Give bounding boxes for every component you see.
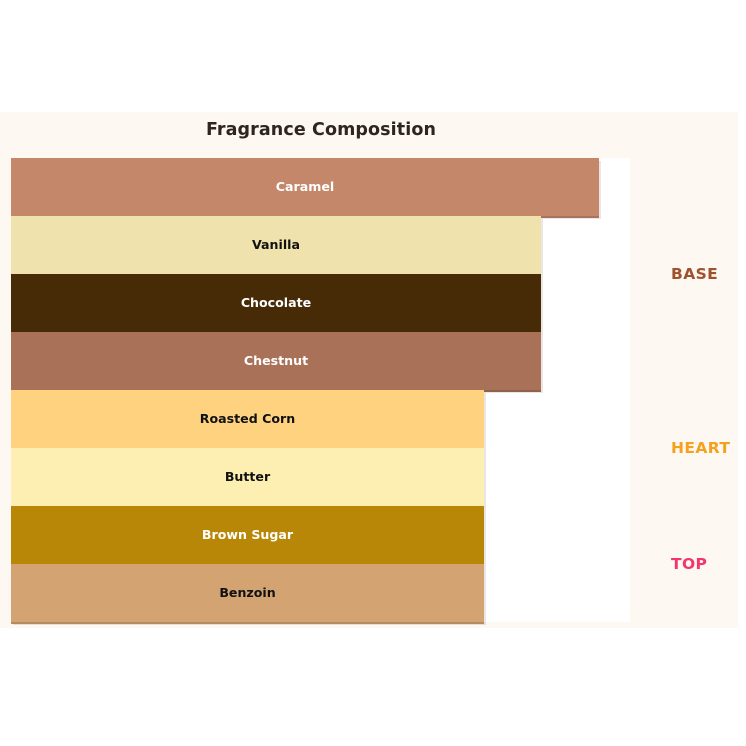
bar-label: Chocolate [11, 274, 541, 332]
bar-label: Benzoin [11, 564, 484, 622]
group-label-top[interactable]: TOP [671, 555, 707, 573]
bar-label: Butter [11, 448, 484, 506]
bar-label: Brown Sugar [11, 506, 484, 564]
bar-row: Roasted Corn [11, 390, 630, 448]
bar-row: Chocolate [11, 274, 630, 332]
chart-plot-area: CaramelVanillaChocolateChestnutRoasted C… [11, 158, 630, 622]
bar-row: Butter [11, 448, 630, 506]
bar-row: Vanilla [11, 216, 630, 274]
group-label-heart[interactable]: HEART [671, 439, 730, 457]
bar-label: Vanilla [11, 216, 541, 274]
bar-row: Caramel [11, 158, 630, 216]
bar-label: Caramel [11, 158, 599, 216]
bar-row: Benzoin [11, 564, 630, 622]
fragrance-composition-card: Fragrance Composition CaramelVanillaChoc… [0, 112, 738, 628]
group-label-base[interactable]: BASE [671, 265, 718, 283]
bar-row: Chestnut [11, 332, 630, 390]
bar-row: Brown Sugar [11, 506, 630, 564]
bar-label: Chestnut [11, 332, 541, 390]
chart-title: Fragrance Composition [0, 120, 642, 140]
bar-label: Roasted Corn [11, 390, 484, 448]
